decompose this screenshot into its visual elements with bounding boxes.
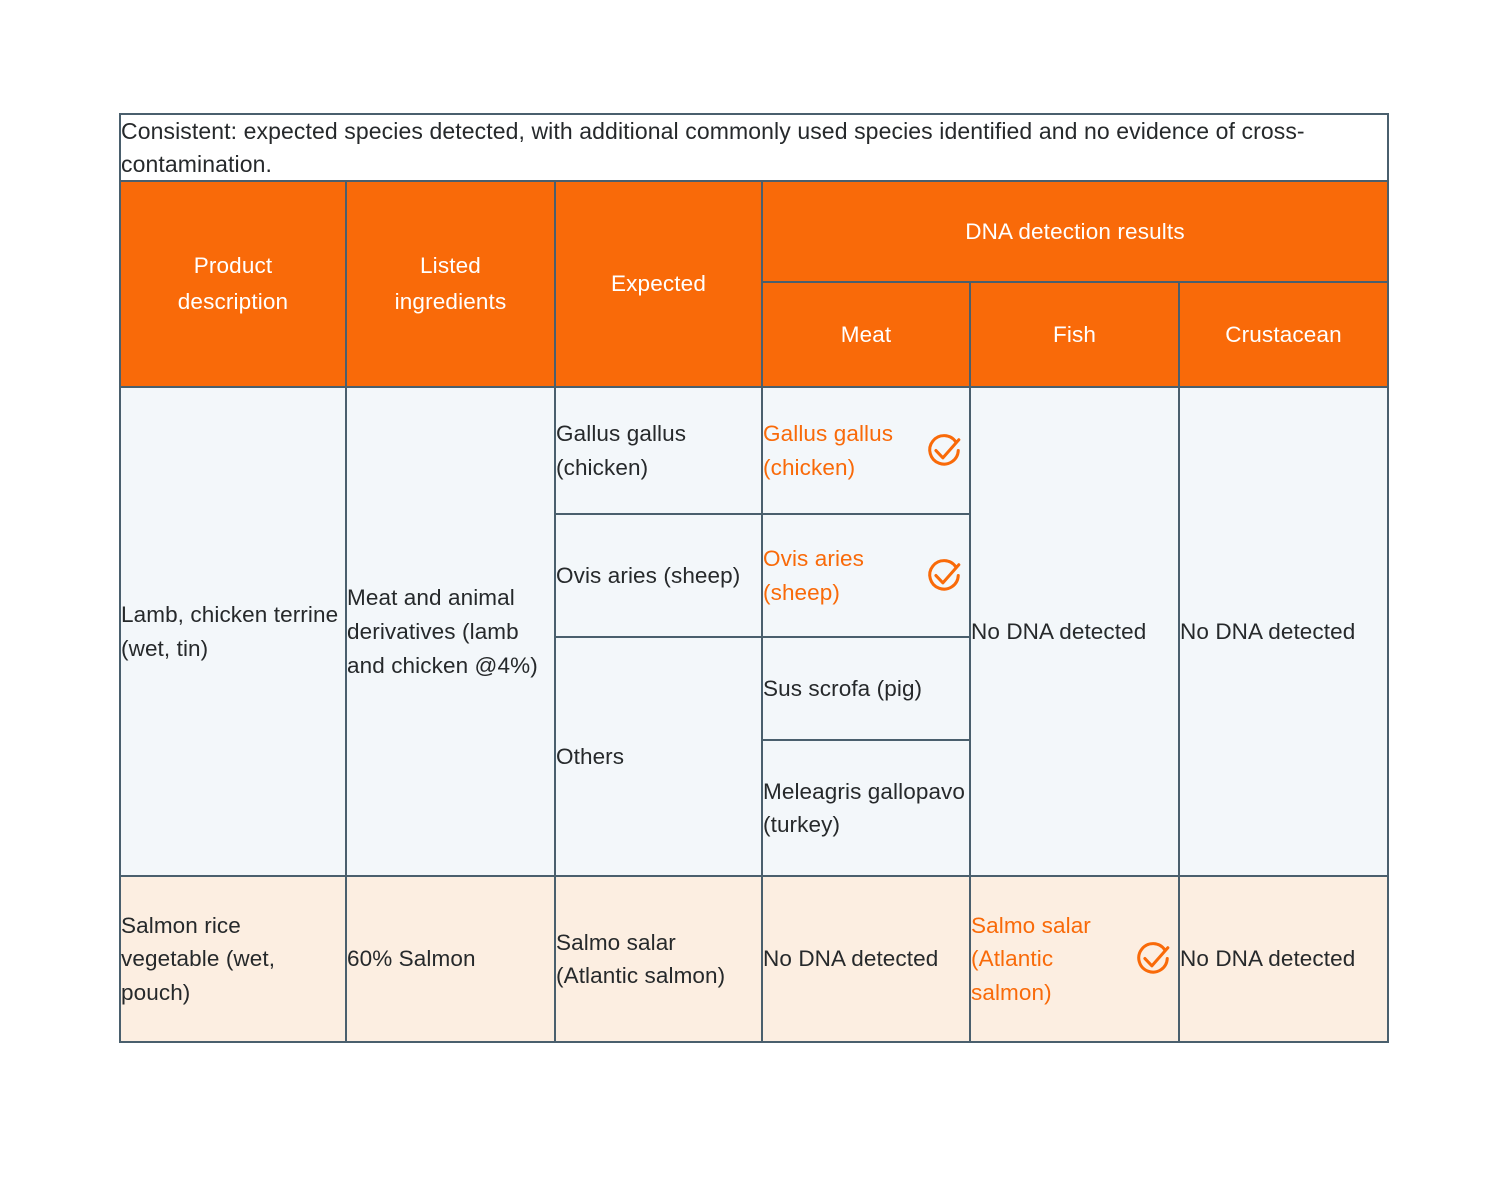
header-product-description-line2: description bbox=[178, 289, 288, 314]
caption-text: Consistent: expected species detected, w… bbox=[121, 115, 1387, 180]
cell-listed-ingredients: Meat and animal derivatives (lamb and ch… bbox=[346, 387, 555, 876]
header-listed-ingredients-line2: ingredients bbox=[395, 289, 507, 314]
header-row-top: Product description Listed ingredients E… bbox=[120, 181, 1388, 282]
header-dna-detection-results: DNA detection results bbox=[762, 181, 1388, 282]
header-fish: Fish bbox=[970, 282, 1179, 387]
cell-fish-result: No DNA detected bbox=[970, 387, 1179, 876]
cell-expected: Ovis aries (sheep) bbox=[555, 514, 762, 637]
cell-expected-others: Others bbox=[555, 637, 762, 876]
cell-meat-result: No DNA detected bbox=[762, 876, 970, 1042]
cell-listed-ingredients: 60% Salmon bbox=[346, 876, 555, 1042]
cell-product-description: Salmon rice vegetable (wet, pouch) bbox=[120, 876, 346, 1042]
header-listed-ingredients-line1: Listed bbox=[420, 253, 481, 278]
fish-species-label: Salmo salar (Atlantic salmon) bbox=[971, 909, 1124, 1010]
cell-meat-result: Ovis aries (sheep) bbox=[762, 514, 970, 637]
cell-fish-result: Salmo salar (Atlantic salmon) bbox=[970, 876, 1179, 1042]
dna-results-table: Consistent: expected species detected, w… bbox=[119, 113, 1389, 1043]
header-meat: Meat bbox=[762, 282, 970, 387]
cell-expected: Gallus gallus (chicken) bbox=[555, 387, 762, 514]
check-circle-icon bbox=[1134, 940, 1172, 978]
results-table-container: Consistent: expected species detected, w… bbox=[119, 113, 1387, 1043]
check-circle-icon bbox=[925, 557, 963, 595]
table-row: Salmon rice vegetable (wet, pouch) 60% S… bbox=[120, 876, 1388, 1042]
caption-row: Consistent: expected species detected, w… bbox=[120, 114, 1388, 181]
header-product-description: Product description bbox=[120, 181, 346, 387]
cell-crustacean-result: No DNA detected bbox=[1179, 876, 1388, 1042]
page-root: Consistent: expected species detected, w… bbox=[0, 0, 1504, 1200]
header-listed-ingredients: Listed ingredients bbox=[346, 181, 555, 387]
cell-meat-result: Sus scrofa (pig) bbox=[762, 637, 970, 740]
header-expected: Expected bbox=[555, 181, 762, 387]
table-row: Lamb, chicken terrine (wet, tin) Meat an… bbox=[120, 387, 1388, 514]
meat-species-label: Gallus gallus (chicken) bbox=[763, 417, 915, 485]
header-product-description-line1: Product bbox=[194, 253, 273, 278]
cell-meat-result: Gallus gallus (chicken) bbox=[762, 387, 970, 514]
header-crustacean: Crustacean bbox=[1179, 282, 1388, 387]
cell-product-description: Lamb, chicken terrine (wet, tin) bbox=[120, 387, 346, 876]
cell-meat-result: Meleagris gallopavo (turkey) bbox=[762, 740, 970, 876]
cell-crustacean-result: No DNA detected bbox=[1179, 387, 1388, 876]
cell-expected: Salmo salar (Atlantic salmon) bbox=[555, 876, 762, 1042]
meat-species-label: Ovis aries (sheep) bbox=[763, 542, 915, 610]
table-caption-cell: Consistent: expected species detected, w… bbox=[120, 114, 1388, 181]
check-circle-icon bbox=[925, 432, 963, 470]
